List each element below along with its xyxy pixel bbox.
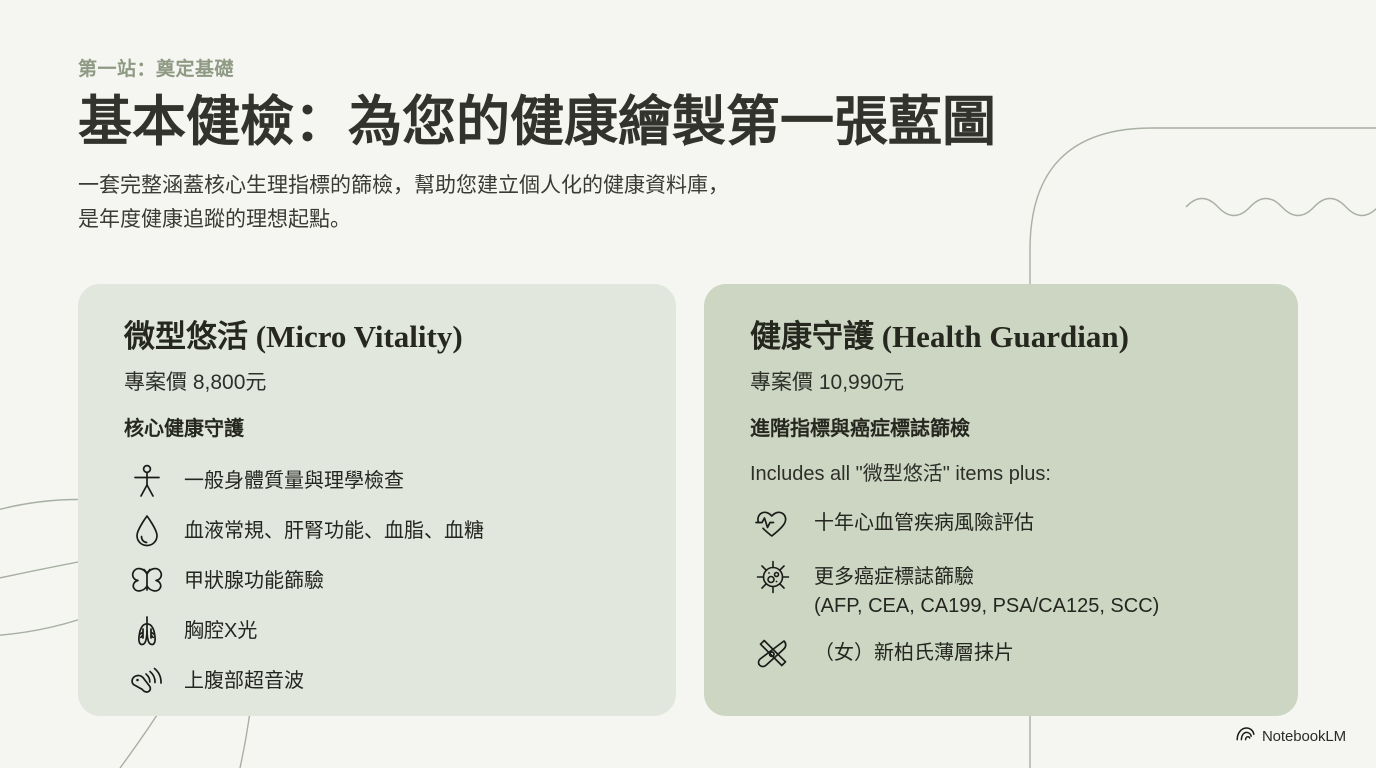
list-item: 血液常規、肝腎功能、血脂、血糖 xyxy=(124,510,646,552)
card-micro-vitality[interactable]: 微型悠活 (Micro Vitality) 專案價 8,800元 核心健康守護 xyxy=(78,284,676,716)
card-title: 微型悠活 (Micro Vitality) xyxy=(124,318,646,355)
butterfly-thyroid-icon xyxy=(124,560,170,602)
feature-label-line-2: (AFP, CEA, CA199, PSA/CA125, SCC) xyxy=(814,592,1159,620)
card-price: 專案價 10,990元 xyxy=(750,369,1268,396)
feature-list: 十年心血管疾病風險評估 xyxy=(750,502,1268,674)
header-block: 第一站：奠定基礎 基本健檢：為您的健康繪製第一張藍圖 一套完整涵蓋核心生理指標的… xyxy=(78,58,1058,237)
card-includes-note: Includes all "微型悠活" items plus: xyxy=(750,460,1268,488)
feature-label: 一般身體質量與理學檢查 xyxy=(184,460,404,495)
notebooklm-arc-icon xyxy=(1236,726,1255,746)
feature-label: 上腹部超音波 xyxy=(184,660,304,695)
subtitle-line-1: 一套完整涵蓋核心生理指標的篩檢，幫助您建立個人化的健康資料庫， xyxy=(78,169,918,203)
feature-label: （女）新柏氏薄層抹片 xyxy=(814,632,1014,667)
list-item: 上腹部超音波 xyxy=(124,660,646,702)
ultrasound-probe-icon xyxy=(124,660,170,702)
slide-canvas: 第一站：奠定基礎 基本健檢：為您的健康繪製第一張藍圖 一套完整涵蓋核心生理指標的… xyxy=(0,0,1376,768)
page-title: 基本健檢：為您的健康繪製第一張藍圖 xyxy=(78,91,1058,153)
card-health-guardian[interactable]: 健康守護 (Health Guardian) 專案價 10,990元 進階指標與… xyxy=(704,284,1298,716)
person-icon xyxy=(124,460,170,502)
subtitle-line-2: 是年度健康追蹤的理想起點。 xyxy=(78,203,918,237)
card-section-heading: 進階指標與癌症標誌篩檢 xyxy=(750,416,1268,442)
virus-cell-icon xyxy=(750,556,796,598)
card-title: 健康守護 (Health Guardian) xyxy=(750,318,1268,355)
feature-label: 胸腔X光 xyxy=(184,610,257,645)
brand-footer: NotebookLM xyxy=(1236,726,1346,746)
list-item: 十年心血管疾病風險評估 xyxy=(750,502,1268,544)
swab-slide-icon xyxy=(750,632,796,674)
brand-name: NotebookLM xyxy=(1262,728,1346,745)
list-item: 一般身體質量與理學檢查 xyxy=(124,460,646,502)
feature-label: 十年心血管疾病風險評估 xyxy=(814,502,1034,537)
card-price: 專案價 8,800元 xyxy=(124,369,646,396)
eyebrow-label: 第一站：奠定基礎 xyxy=(78,58,1058,83)
lungs-icon xyxy=(124,610,170,652)
card-section-heading: 核心健康守護 xyxy=(124,416,646,442)
heart-pulse-icon xyxy=(750,502,796,544)
feature-label: 血液常規、肝腎功能、血脂、血糖 xyxy=(184,510,484,545)
feature-label: 更多癌症標誌篩驗 (AFP, CEA, CA199, PSA/CA125, SC… xyxy=(814,556,1159,620)
package-cards: 微型悠活 (Micro Vitality) 專案價 8,800元 核心健康守護 xyxy=(78,284,1298,716)
feature-label-line-1: 更多癌症標誌篩驗 xyxy=(814,563,1159,591)
list-item: 甲狀腺功能篩驗 xyxy=(124,560,646,602)
decor-wave-right xyxy=(1186,199,1376,216)
feature-label: 甲狀腺功能篩驗 xyxy=(184,560,324,595)
list-item: （女）新柏氏薄層抹片 xyxy=(750,632,1268,674)
list-item: 更多癌症標誌篩驗 (AFP, CEA, CA199, PSA/CA125, SC… xyxy=(750,556,1268,620)
feature-list: 一般身體質量與理學檢查 血液常規、肝腎功能、血脂、血糖 xyxy=(124,460,646,702)
blood-drop-icon xyxy=(124,510,170,552)
page-subtitle: 一套完整涵蓋核心生理指標的篩檢，幫助您建立個人化的健康資料庫， 是年度健康追蹤的… xyxy=(78,169,918,237)
list-item: 胸腔X光 xyxy=(124,610,646,652)
